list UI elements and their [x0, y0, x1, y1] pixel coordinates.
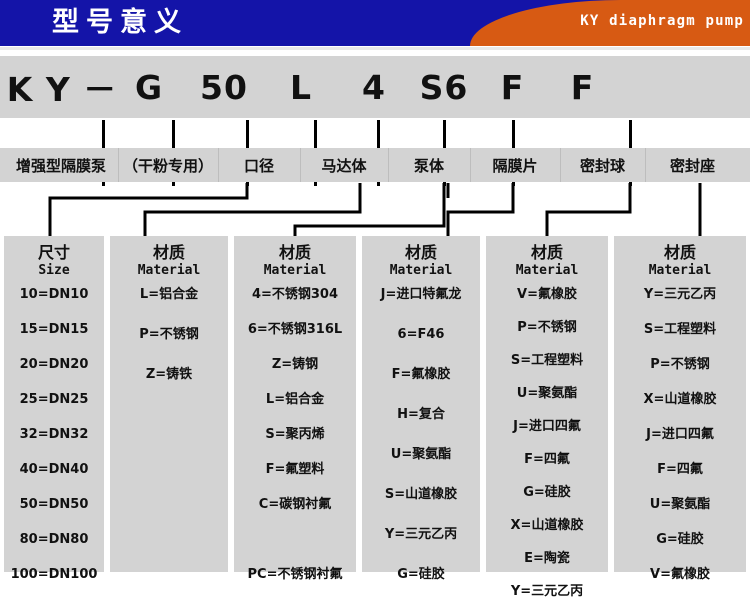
descriptor-separator-7: [645, 148, 646, 182]
code-f2: F: [545, 56, 620, 118]
legend-pump-body-material-title-cn: 材质: [362, 243, 480, 262]
legend-bore-material-title-cn: 材质: [110, 243, 228, 262]
legend-diaphragm-material-title-en: Material: [486, 262, 608, 279]
desc-seal-ball: 密封球: [560, 148, 645, 182]
legend-diaphragm-material-item-10: Y=三元乙丙: [490, 585, 604, 599]
legend-seal-seat-material-item-7: U=聚氨酯: [618, 498, 742, 512]
descriptor-separator-1: [118, 148, 119, 182]
code-g: G: [112, 56, 186, 118]
model-code-row: K Y －G50L4S6FF: [0, 56, 750, 118]
code-l: L: [262, 56, 340, 118]
descriptor-tick-1: [102, 182, 105, 186]
legend-seal-seat-material-item-8: G=硅胶: [618, 533, 742, 547]
legend-seal-seat-material-title-en: Material: [614, 262, 746, 279]
legend-pump-body-material-header: 材质Material: [362, 236, 480, 279]
header-bar: 型号意义 KY diaphragm pump: [0, 0, 750, 46]
legend-motor-body-material-header: 材质Material: [234, 236, 356, 279]
legend-pump-body-material-item-8: G=硅胶: [366, 568, 476, 582]
descriptor-separator-6: [560, 148, 561, 182]
legend-pump-body-material: 材质MaterialJ=进口特氟龙6=F46F=氟橡胶H=复合U=聚氨酯S=山道…: [362, 236, 480, 572]
legend-size-item-8: 80=DN80: [8, 533, 100, 547]
descriptor-tick-4: [314, 182, 317, 186]
desc-dry-powder: （干粉专用）: [118, 148, 218, 182]
code-tick-8: [629, 120, 632, 148]
legend-size-items: 10=DN1015=DN1520=DN2025=DN2532=DN3240=DN…: [4, 288, 104, 582]
legend-diaphragm-material-item-7: G=硅胶: [490, 486, 604, 500]
legend-pump-body-material-item-5: U=聚氨酯: [366, 448, 476, 462]
legend-seal-seat-material-item-9: V=氟橡胶: [618, 568, 742, 582]
legend-pump-body-material-title-en: Material: [362, 262, 480, 279]
legend-motor-body-material-title-en: Material: [234, 262, 356, 279]
legend-seal-seat-material-item-6: F=四氟: [618, 463, 742, 477]
desc-pump-body: 泵体: [388, 148, 470, 182]
legend-size-header: 尺寸Size: [4, 236, 104, 279]
legend-seal-seat-material-title-cn: 材质: [614, 243, 746, 262]
code-50: 50: [186, 56, 262, 118]
code-tick-3: [246, 120, 249, 148]
legend-motor-body-material-item-9: PC=不锈钢衬氟: [238, 568, 352, 582]
legend-pump-body-material-item-6: S=山道橡胶: [366, 488, 476, 502]
legend-motor-body-material-item-2: 6=不锈钢316L: [238, 323, 352, 337]
code-f1: F: [480, 56, 545, 118]
legend-motor-body-material-title-cn: 材质: [234, 243, 356, 262]
descriptor-row: 增强型隔膜泵（干粉专用）口径马达体泵体隔膜片密封球密封座: [0, 148, 750, 182]
legend-diaphragm-material-item-2: P=不锈钢: [490, 321, 604, 335]
code-s6: S6: [408, 56, 480, 118]
code-tick-2: [172, 120, 175, 148]
legend-seal-seat-material-items: Y=三元乙丙S=工程塑料P=不锈钢X=山道橡胶J=进口四氟F=四氟U=聚氨酯G=…: [614, 288, 746, 582]
header-divider: [0, 47, 750, 50]
legend-motor-body-material-item-4: L=铝合金: [238, 393, 352, 407]
legend-seal-seat-material-item-5: J=进口四氟: [618, 428, 742, 442]
desc-pump-type: 增强型隔膜泵: [4, 148, 118, 182]
legend-size-item-6: 40=DN40: [8, 463, 100, 477]
legend-motor-body-material-item-6: F=氟塑料: [238, 463, 352, 477]
legend-size: 尺寸Size10=DN1015=DN1520=DN2025=DN2532=DN3…: [4, 236, 104, 572]
legend-diaphragm-material-title-cn: 材质: [486, 243, 608, 262]
descriptor-tick-2: [172, 182, 175, 186]
descriptor-tick-6: [443, 182, 446, 186]
legend-size-item-2: 15=DN15: [8, 323, 100, 337]
descriptor-separator-5: [470, 148, 471, 182]
legend-size-item-5: 32=DN32: [8, 428, 100, 442]
code-ky: K Y －: [12, 56, 112, 118]
legend-size-item-3: 20=DN20: [8, 358, 100, 372]
legend-size-item-4: 25=DN25: [8, 393, 100, 407]
descriptor-separator-4: [388, 148, 389, 182]
desc-bore: 口径: [218, 148, 300, 182]
desc-seal-seat: 密封座: [645, 148, 740, 182]
legend-bore-material: 材质MaterialL=铝合金P=不锈钢Z=铸铁: [110, 236, 228, 572]
legend-bore-material-item-2: P=不锈钢: [114, 328, 224, 342]
descriptor-tick-7: [512, 182, 515, 186]
code-tick-7: [512, 120, 515, 148]
legend-diaphragm-material-item-6: F=四氟: [490, 453, 604, 467]
legend-seal-seat-material-item-4: X=山道橡胶: [618, 393, 742, 407]
legend-pump-body-material-items: J=进口特氟龙6=F46F=氟橡胶H=复合U=聚氨酯S=山道橡胶Y=三元乙丙G=…: [362, 288, 480, 582]
legend-size-title-cn: 尺寸: [4, 243, 104, 262]
desc-diaphragm: 隔膜片: [470, 148, 560, 182]
legend-diaphragm-material-item-1: V=氟橡胶: [490, 288, 604, 302]
legend-size-item-7: 50=DN50: [8, 498, 100, 512]
code-tick-4: [314, 120, 317, 148]
legend-diaphragm-material-item-3: S=工程塑料: [490, 354, 604, 368]
legend-bore-material-header: 材质Material: [110, 236, 228, 279]
legend-pump-body-material-item-7: Y=三元乙丙: [366, 528, 476, 542]
legend-motor-body-material-item-7: C=碳钢衬氟: [238, 498, 352, 512]
legend-size-item-1: 10=DN10: [8, 288, 100, 302]
legend-seal-seat-material-item-3: P=不锈钢: [618, 358, 742, 372]
legend-pump-body-material-item-1: J=进口特氟龙: [366, 288, 476, 302]
legend-motor-body-material: 材质Material4=不锈钢3046=不锈钢316LZ=铸钢L=铝合金S=聚丙…: [234, 236, 356, 572]
legend-seal-seat-material-item-2: S=工程塑料: [618, 323, 742, 337]
descriptor-tick-8: [629, 182, 632, 186]
legend-motor-body-material-item-5: S=聚丙烯: [238, 428, 352, 442]
legend-motor-body-material-item-1: 4=不锈钢304: [238, 288, 352, 302]
legend-pump-body-material-item-2: 6=F46: [366, 328, 476, 342]
legend-seal-seat-material-header: 材质Material: [614, 236, 746, 279]
legend-pump-body-material-item-3: F=氟橡胶: [366, 368, 476, 382]
legend-diaphragm-material-item-5: J=进口四氟: [490, 420, 604, 434]
descriptor-separator-3: [300, 148, 301, 182]
code-tick-5: [377, 120, 380, 148]
desc-motor-body: 马达体: [300, 148, 388, 182]
legend-diaphragm-material: 材质MaterialV=氟橡胶P=不锈钢S=工程塑料U=聚氨酯J=进口四氟F=四…: [486, 236, 608, 572]
legend-seal-seat-material-item-1: Y=三元乙丙: [618, 288, 742, 302]
code-tick-1: [102, 120, 105, 148]
legend-diaphragm-material-item-8: X=山道橡胶: [490, 519, 604, 533]
descriptor-tick-3: [246, 182, 249, 186]
legend-pump-body-material-item-4: H=复合: [366, 408, 476, 422]
legend-diaphragm-material-item-4: U=聚氨酯: [490, 387, 604, 401]
legend-diaphragm-material-items: V=氟橡胶P=不锈钢S=工程塑料U=聚氨酯J=进口四氟F=四氟G=硅胶X=山道橡…: [486, 288, 608, 599]
legend-bore-material-items: L=铝合金P=不锈钢Z=铸铁: [110, 288, 228, 382]
code-4: 4: [340, 56, 408, 118]
descriptor-tick-5: [377, 182, 380, 186]
descriptor-separator-2: [218, 148, 219, 182]
legend-size-item-9: 100=DN100: [8, 568, 100, 582]
legend-bore-material-title-en: Material: [110, 262, 228, 279]
legend-motor-body-material-items: 4=不锈钢3046=不锈钢316LZ=铸钢L=铝合金S=聚丙烯F=氟塑料C=碳钢…: [234, 288, 356, 582]
code-tick-6: [443, 120, 446, 148]
page-title: 型号意义: [52, 5, 188, 41]
legend-bore-material-item-1: L=铝合金: [114, 288, 224, 302]
legend-bore-material-item-3: Z=铸铁: [114, 368, 224, 382]
legend-size-title-en: Size: [4, 262, 104, 279]
legend-diaphragm-material-item-9: E=陶瓷: [490, 552, 604, 566]
legend-motor-body-material-item-3: Z=铸钢: [238, 358, 352, 372]
legend-diaphragm-material-header: 材质Material: [486, 236, 608, 279]
header-subtitle: KY diaphragm pump: [580, 13, 744, 29]
model-designation-diagram: 型号意义 KY diaphragm pump K Y －G50L4S6FF 增强…: [0, 0, 750, 576]
legend-seal-seat-material: 材质MaterialY=三元乙丙S=工程塑料P=不锈钢X=山道橡胶J=进口四氟F…: [614, 236, 746, 572]
